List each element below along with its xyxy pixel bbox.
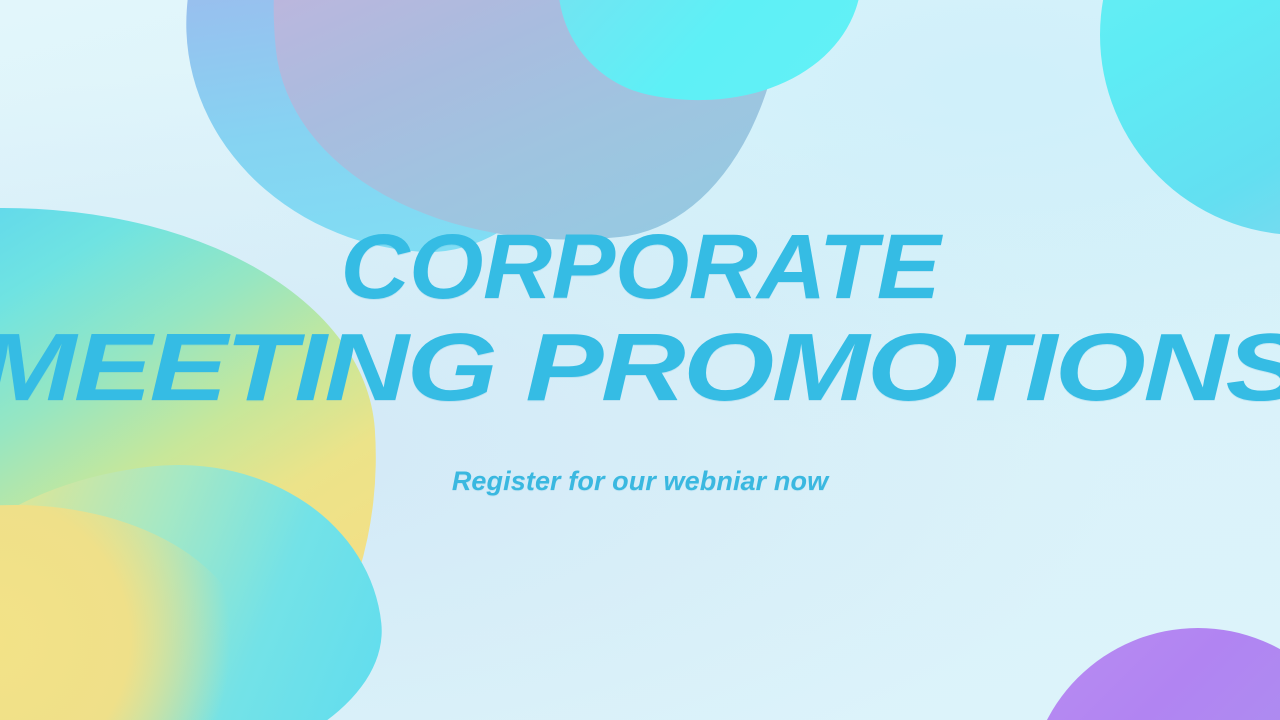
poster-content: CORPORATE MEETING PROMOTIONS Register fo… bbox=[0, 0, 1280, 720]
poster-subtitle: Register for our webniar now bbox=[452, 466, 828, 497]
headline-line-1: CORPORATE bbox=[340, 223, 940, 311]
headline-line-2: MEETING PROMOTIONS bbox=[0, 322, 1280, 414]
promotional-poster: CORPORATE MEETING PROMOTIONS Register fo… bbox=[0, 0, 1280, 720]
